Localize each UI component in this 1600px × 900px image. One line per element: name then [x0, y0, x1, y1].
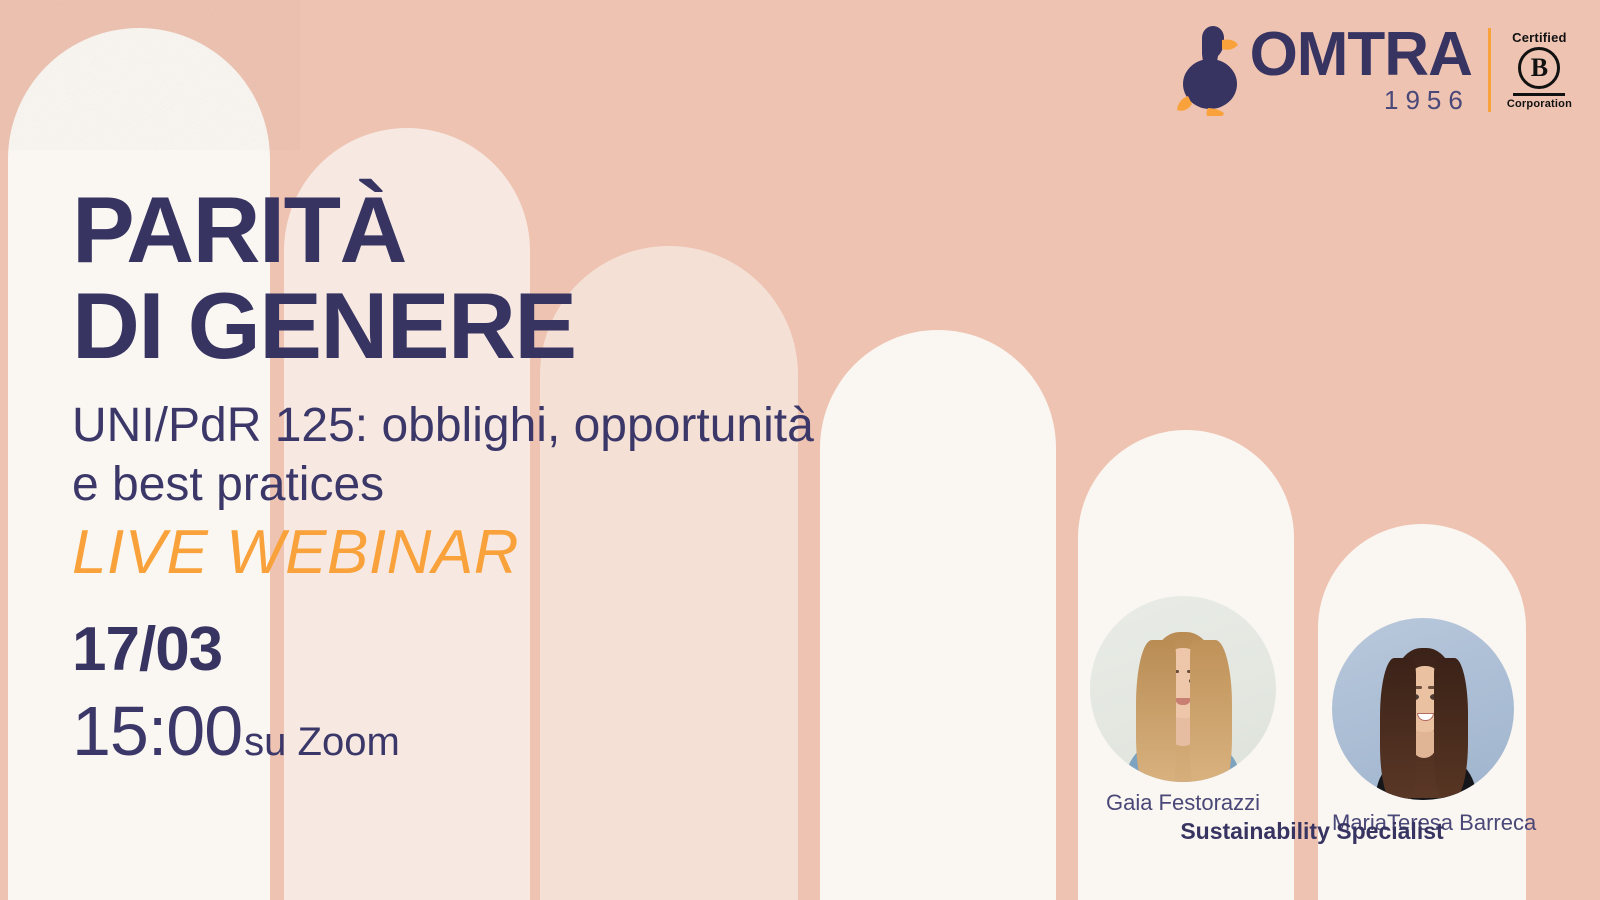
event-type-label: LIVE WEBINAR — [72, 519, 814, 587]
avatar — [1090, 596, 1276, 782]
page-title: PARITÀ DI GENERE — [72, 182, 814, 374]
bcorp-b-icon: B — [1518, 47, 1560, 89]
speaker-card: Gaia Festorazzi — [1090, 596, 1276, 816]
event-time: 15:00 — [72, 696, 242, 766]
brand-year: 1956 — [1384, 85, 1470, 116]
brand-logo: OMTRA 1956 Certified B Corporation — [1172, 24, 1572, 116]
speaker-card: MariaTeresa Barreca — [1332, 618, 1518, 836]
avatar — [1332, 618, 1514, 800]
brand-wordmark: OMTRA — [1250, 26, 1472, 83]
bcorp-certification-badge: Certified B Corporation — [1507, 31, 1572, 110]
portrait-gaia-festorazzi — [1090, 596, 1276, 782]
content-column: PARITÀ DI GENERE UNI/PdR 125: obblighi, … — [72, 182, 814, 766]
logo-divider — [1488, 28, 1491, 112]
speaker-role: Sustainability Specialist — [1082, 818, 1542, 845]
bcorp-divider — [1513, 93, 1565, 96]
event-time-row: 15:00 su Zoom — [72, 696, 814, 766]
subtitle: UNI/PdR 125: obblighi, opportunità e bes… — [72, 396, 814, 515]
bcorp-corporation-label: Corporation — [1507, 99, 1572, 110]
portrait-mariateresa-barreca — [1332, 618, 1514, 800]
event-platform: su Zoom — [244, 722, 400, 762]
background-arch-4 — [820, 330, 1056, 900]
webinar-poster: OMTRA 1956 Certified B Corporation PARIT… — [0, 0, 1600, 900]
speaker-name: Gaia Festorazzi — [1090, 790, 1276, 816]
goose-icon — [1172, 24, 1246, 116]
event-date: 17/03 — [72, 617, 814, 682]
bcorp-certified-label: Certified — [1512, 31, 1567, 44]
